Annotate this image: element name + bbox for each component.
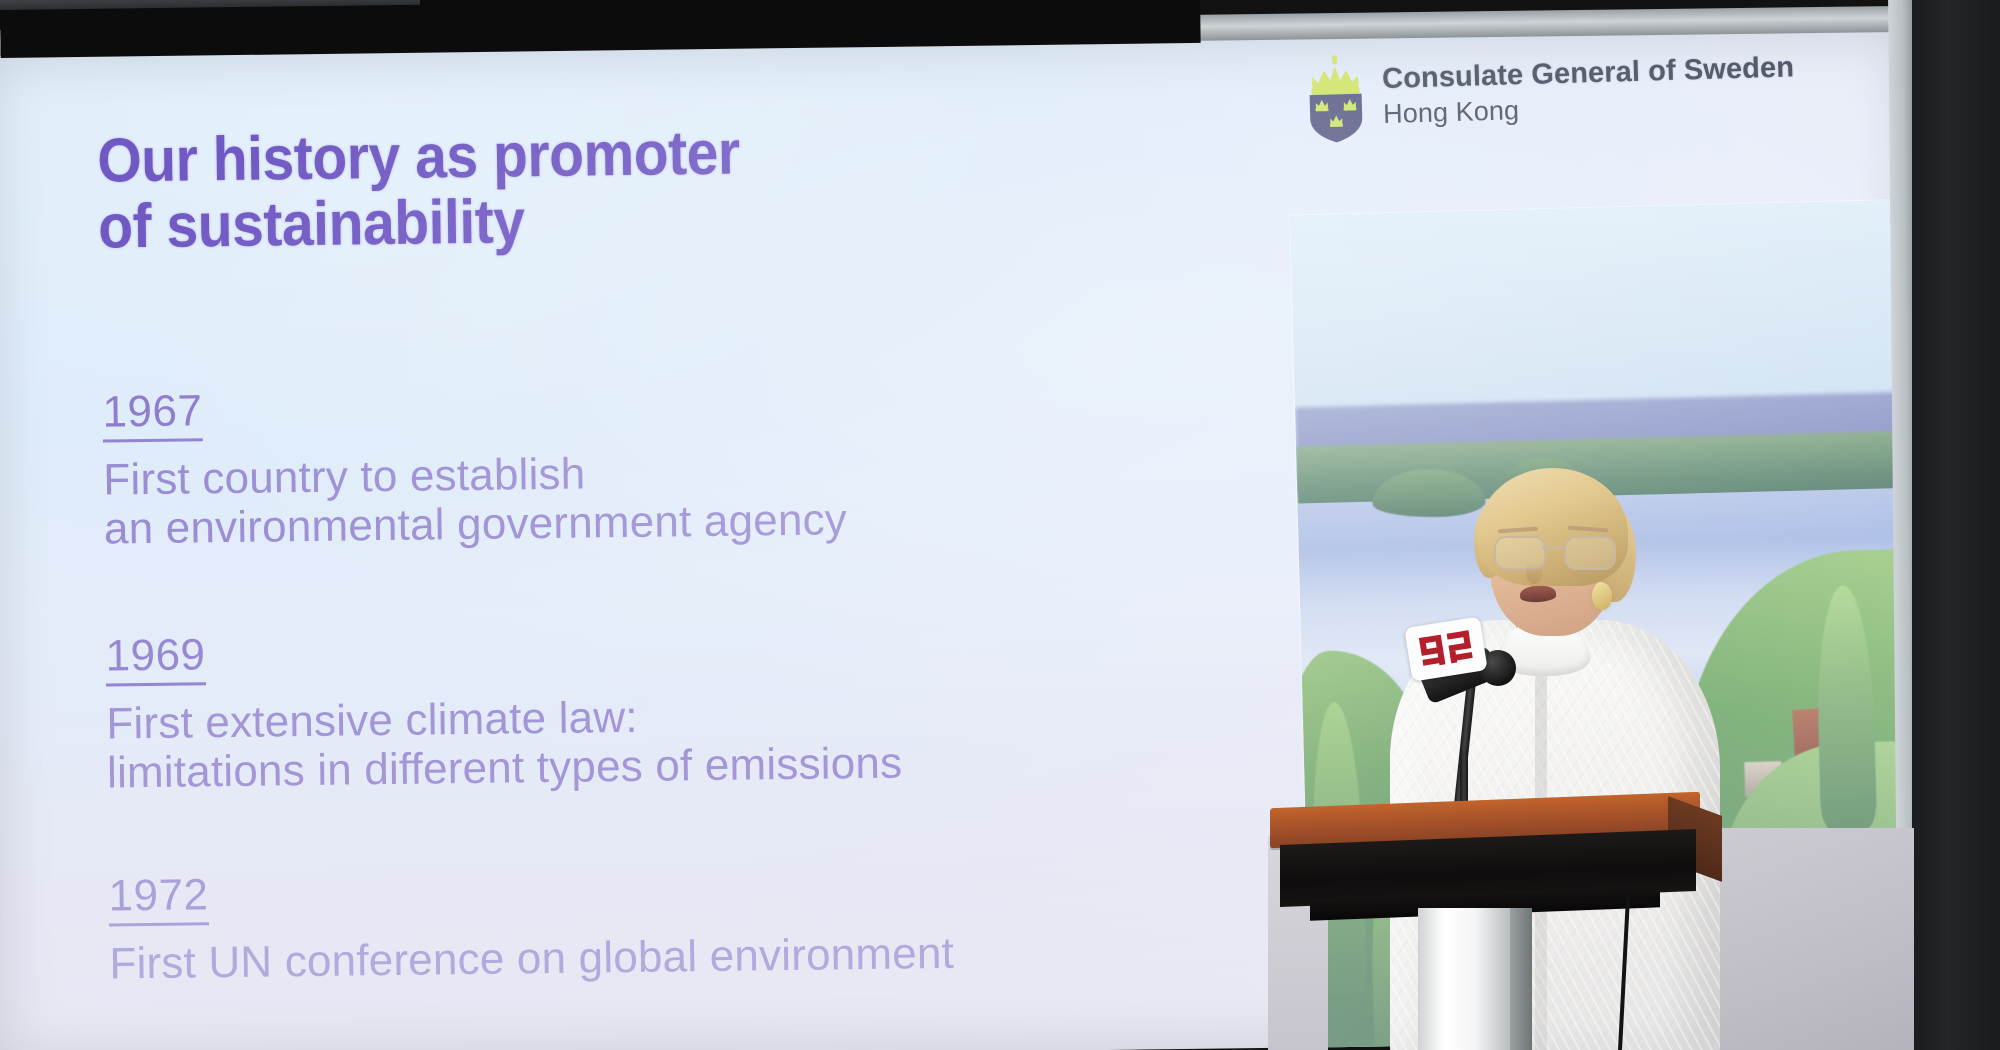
podium <box>1270 800 1720 1050</box>
sweden-three-crowns-shield-icon <box>1301 53 1369 143</box>
timeline-text: First country to establish an environmen… <box>103 443 1104 554</box>
timeline-year: 1967 <box>102 389 203 442</box>
timeline-text: First UN conference on global environmen… <box>109 927 1110 989</box>
podium-mic-pole <box>1460 750 1468 806</box>
podium-column <box>1418 908 1510 1050</box>
timeline-year: 1972 <box>108 873 209 926</box>
dark-wall-right <box>1912 0 2000 1050</box>
podium-cable <box>1618 896 1630 1050</box>
eyeglasses-icon <box>1492 536 1618 566</box>
podium-column-shadow <box>1510 908 1532 1050</box>
consulate-logo: Consulate General of Sweden Hong Kong <box>1301 41 1795 143</box>
speaker-earring <box>1592 582 1612 610</box>
timeline-entry: 1972 First UN conference on global envir… <box>108 862 1109 989</box>
logo-city-name: Hong Kong <box>1383 88 1796 131</box>
speaker-nose <box>1526 562 1542 584</box>
timeline-year: 1969 <box>105 633 206 686</box>
timeline-text: First extensive climate law: limitations… <box>106 687 1107 798</box>
broadcaster-mic-flag-logo-icon <box>1417 628 1476 670</box>
timeline-entry: 1967 First country to establish an envir… <box>102 378 1104 554</box>
screenshot-stage: Our history as promoter of sustainabilit… <box>0 0 2000 1050</box>
timeline-entry: 1969 First extensive climate law: limita… <box>105 622 1107 798</box>
ceiling-rail <box>0 0 420 10</box>
logo-text-block: Consulate General of Sweden Hong Kong <box>1381 41 1795 130</box>
slide-title: Our history as promoter of sustainabilit… <box>97 119 853 260</box>
